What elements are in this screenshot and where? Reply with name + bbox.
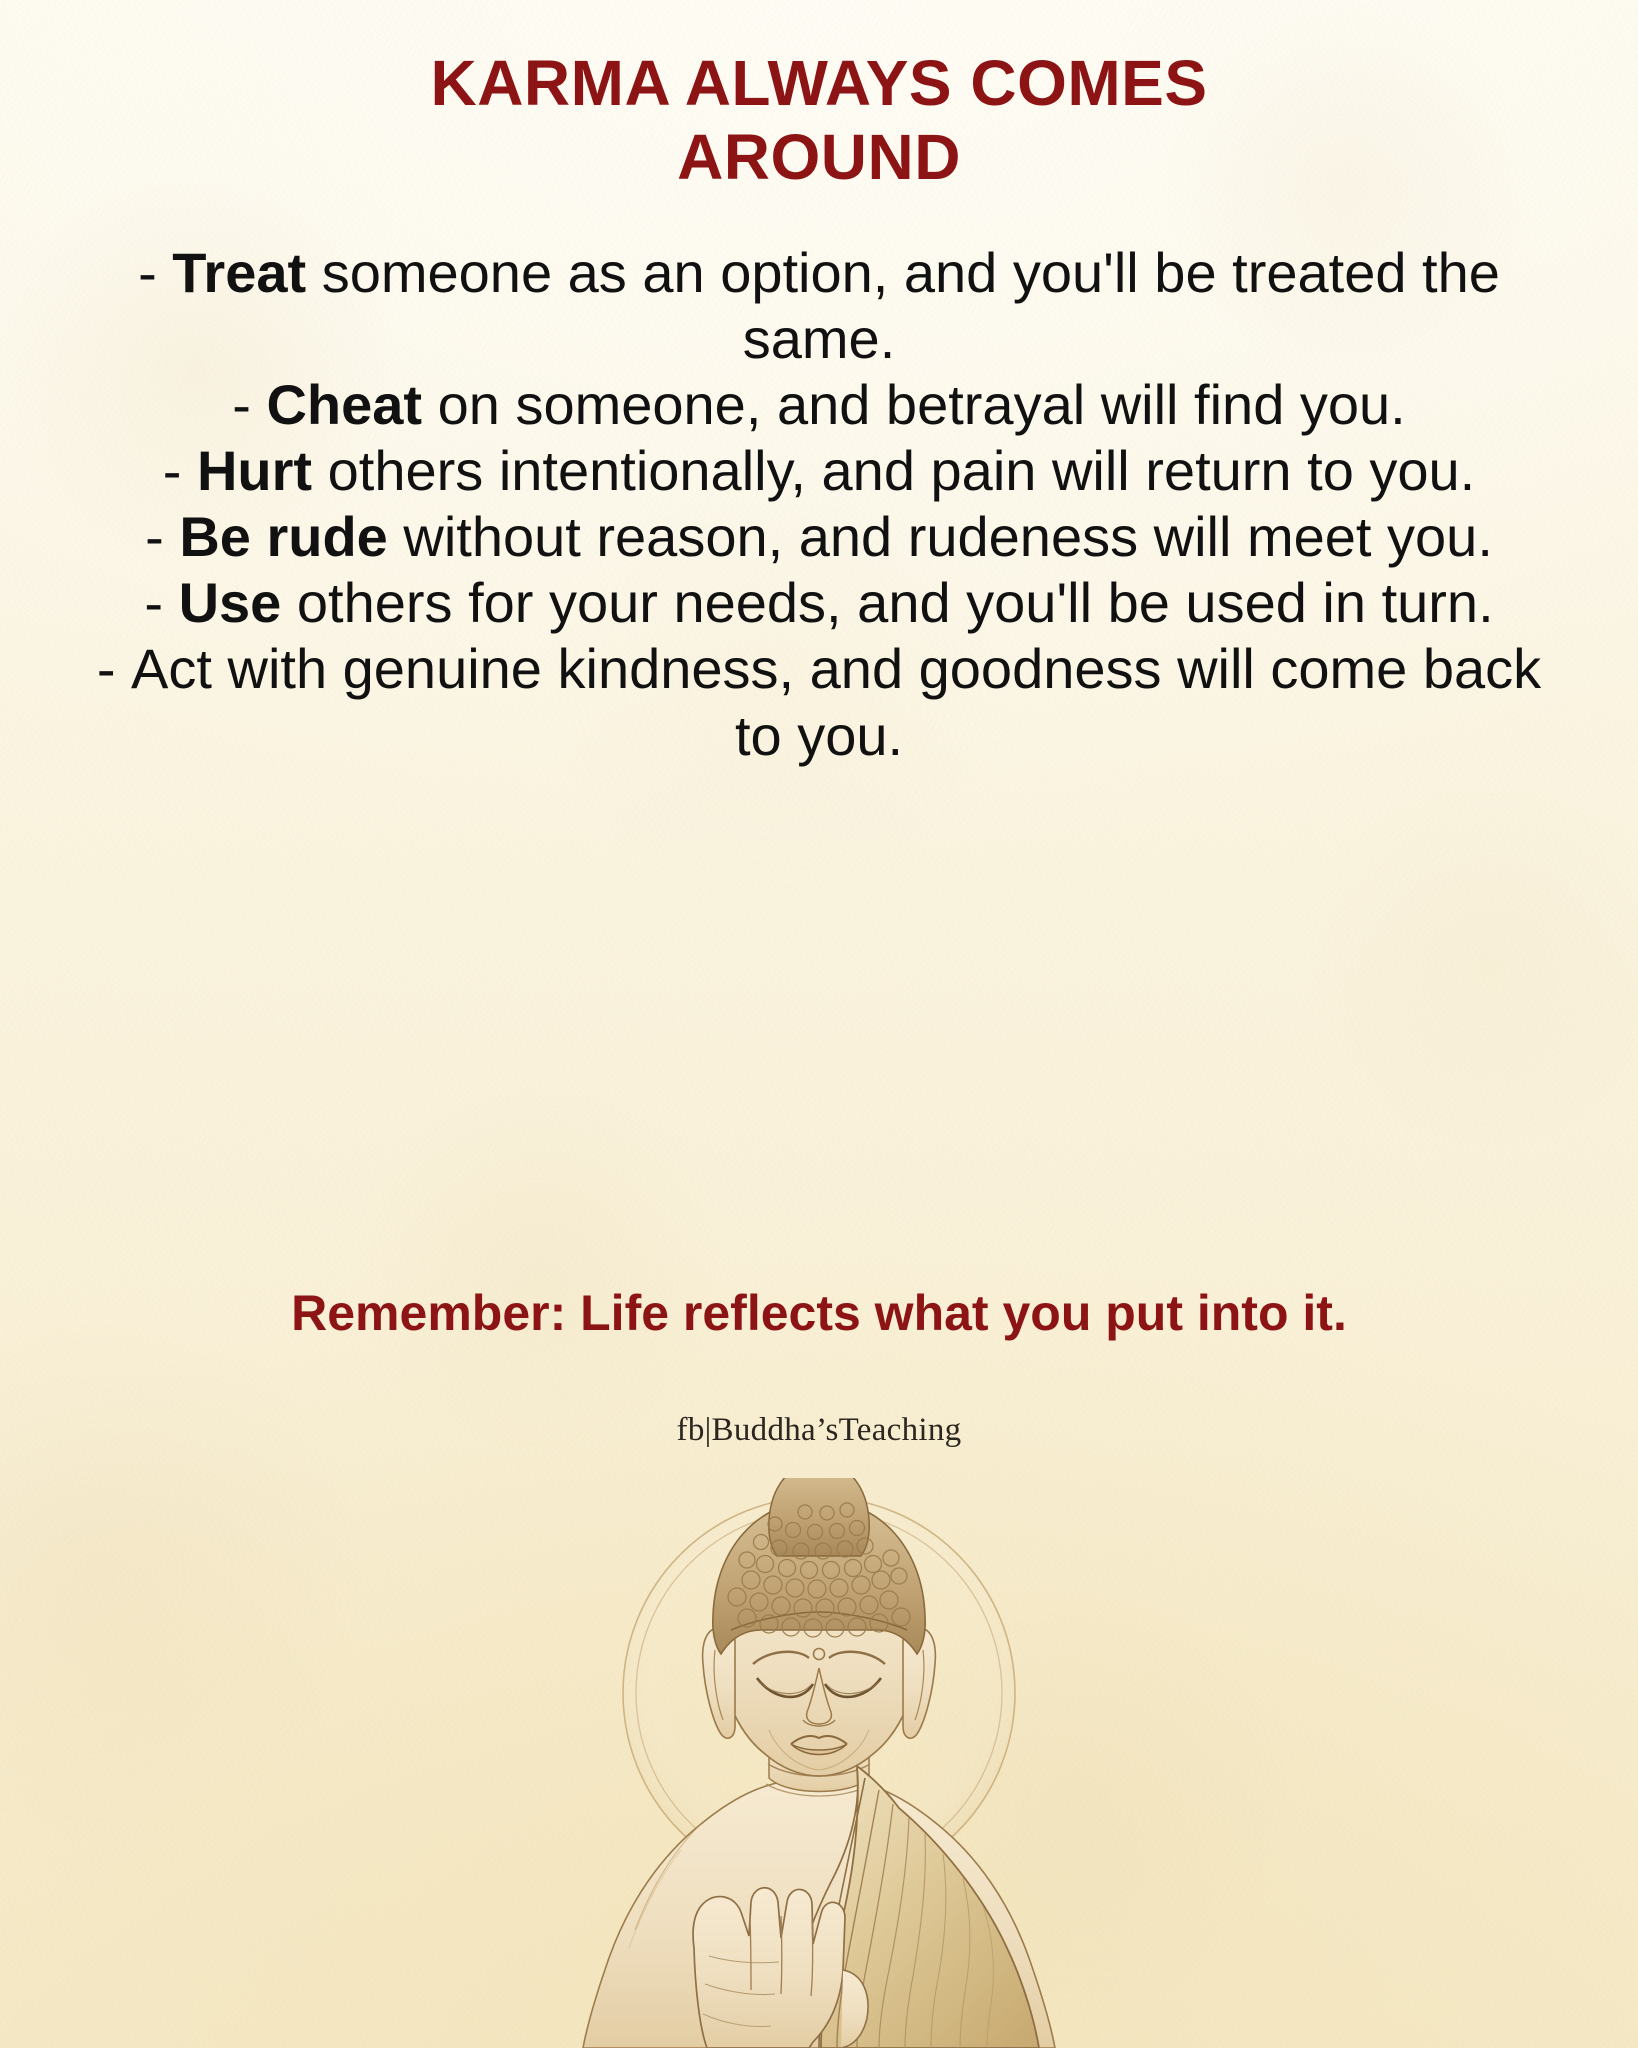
list-item: - Use others for your needs, and you'll …	[70, 570, 1568, 636]
list-item: - Hurt others intentionally, and pain wi…	[70, 438, 1568, 504]
buddha-drawing-svg	[469, 1478, 1169, 2048]
list-item: - Act with genuine kindness, and goodnes…	[70, 636, 1568, 768]
bullet-dash: -	[138, 241, 157, 304]
bullet-dash: -	[97, 637, 116, 700]
list-item: - Treat someone as an option, and you'll…	[70, 240, 1568, 372]
bullet-text: others for your needs, and you'll be use…	[281, 571, 1493, 634]
bullet-text: without reason, and rudeness will meet y…	[388, 505, 1493, 568]
bullet-keyword: Hurt	[197, 439, 312, 502]
bullet-dash: -	[163, 439, 182, 502]
poster-canvas: KARMA ALWAYS COMES AROUND - Treat someon…	[0, 0, 1638, 2048]
list-item: - Be rude without reason, and rudeness w…	[70, 504, 1568, 570]
title-line-1: KARMA ALWAYS COMES	[430, 47, 1207, 119]
closing-statement: Remember: Life reflects what you put int…	[0, 1283, 1638, 1343]
bullet-text: Act with genuine kindness, and goodness …	[131, 637, 1541, 766]
title-line-2: AROUND	[677, 121, 961, 193]
buddha-illustration	[469, 1478, 1169, 2048]
bullet-text: others intentionally, and pain will retu…	[312, 439, 1475, 502]
page-title: KARMA ALWAYS COMES AROUND	[0, 46, 1638, 194]
bullet-dash: -	[232, 373, 251, 436]
bullet-keyword: Be rude	[179, 505, 388, 568]
karma-list: - Treat someone as an option, and you'll…	[70, 240, 1568, 769]
bullet-keyword: Treat	[172, 241, 306, 304]
poster-content: KARMA ALWAYS COMES AROUND - Treat someon…	[0, 0, 1638, 2048]
bullet-keyword: Cheat	[266, 373, 422, 436]
bullet-dash: -	[144, 571, 163, 634]
bullet-text: someone as an option, and you'll be trea…	[306, 241, 1500, 370]
list-item: - Cheat on someone, and betrayal will fi…	[70, 372, 1568, 438]
bullet-dash: -	[145, 505, 164, 568]
bullet-keyword: Use	[179, 571, 282, 634]
credit-attribution: fb|Buddha’sTeaching	[0, 1412, 1638, 1449]
bullet-text: on someone, and betrayal will find you.	[422, 373, 1406, 436]
